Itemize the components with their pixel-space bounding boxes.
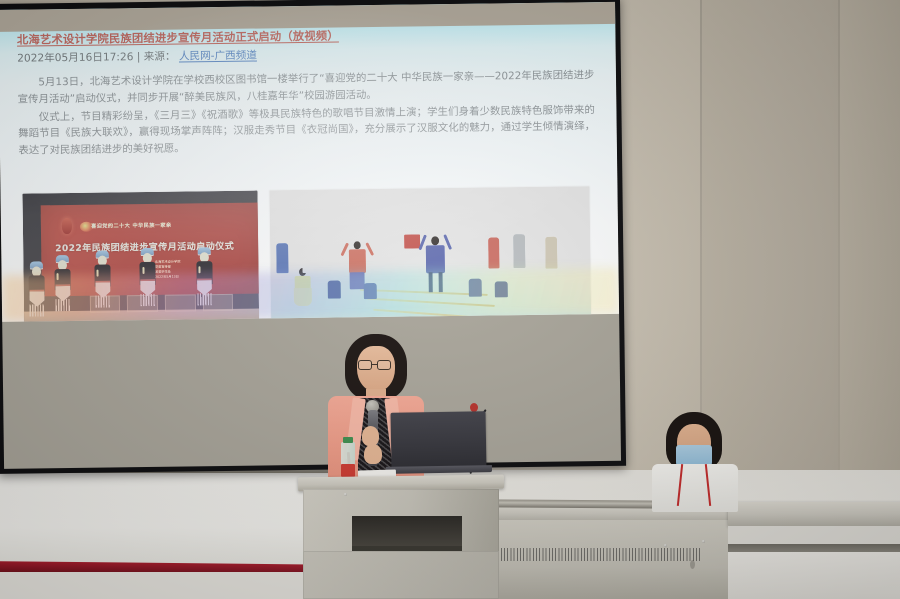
source-link[interactable]: 人民网-广西频道 — [179, 49, 257, 62]
news-body: 5月13日，北海艺术设计学院在学校西校区图书馆一楼举行了“喜迎党的二十大 中华民… — [17, 67, 595, 160]
onlooker — [276, 243, 288, 273]
console-operator — [644, 412, 764, 512]
source-label: 来源： — [144, 50, 176, 62]
lecture-hall-photo: 北海艺术设计学院民族团结进步宣传月活动正式启动（放视频） 2022年05月16日… — [0, 0, 900, 599]
bottle-cap — [343, 437, 353, 443]
console-right-lower — [728, 552, 900, 599]
gym-window — [449, 206, 523, 252]
slide-rainbow-band — [2, 268, 620, 322]
laptop-screen — [391, 411, 487, 469]
projected-slide: 北海艺术设计学院民族团结进步宣传月活动正式启动（放视频） 2022年05月16日… — [0, 2, 619, 322]
podium-base — [303, 551, 499, 599]
glasses-icon — [358, 360, 372, 370]
podium-screw — [344, 493, 347, 496]
bamboo-pole — [380, 320, 495, 322]
onlooker — [302, 246, 313, 273]
banner-line-1: 喜迎党的二十大 中华民族一家亲 — [91, 222, 172, 230]
projection-screen-surface: 北海艺术设计学院民族团结进步宣传月活动正式启动（放视频） 2022年05月16日… — [0, 2, 621, 469]
console-smudge — [690, 560, 695, 569]
glasses-icon — [377, 360, 391, 370]
presenter-hand — [362, 426, 379, 446]
glasses-bridge — [372, 364, 377, 365]
onlooker — [513, 234, 525, 268]
podium-shelf-cavity — [352, 516, 462, 548]
console-right-rail — [728, 543, 900, 552]
console-screw — [664, 544, 667, 547]
meta-separator: | — [137, 51, 141, 63]
console-right-front — [728, 526, 900, 544]
whiteboard — [0, 470, 336, 565]
news-paragraph: 仪式上，节目精彩纷呈，《三月三》《祝酒歌》等极具民族特色的歌唱节目激情上演；学生… — [18, 102, 596, 160]
presenter-hand — [364, 444, 382, 464]
bottle-label — [341, 464, 355, 477]
onlooker — [488, 237, 499, 268]
lantern-decoration — [62, 218, 72, 234]
operator-shirt — [652, 464, 738, 512]
baseboard-below — [0, 572, 344, 599]
onlooker — [545, 237, 557, 269]
console-screw — [702, 540, 705, 543]
news-article: 北海艺术设计学院民族团结进步宣传月活动正式启动（放视频） 2022年05月16日… — [17, 24, 596, 160]
news-date: 2022年05月16日17:26 — [17, 51, 133, 65]
